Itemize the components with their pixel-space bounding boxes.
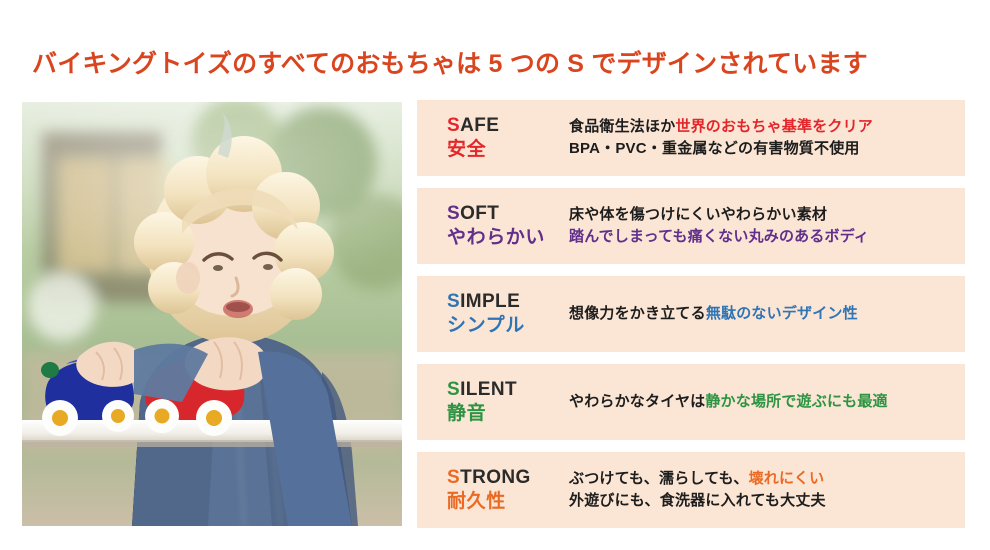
feature-label: STRONG耐久性 (417, 466, 569, 515)
feature-label-en: SILENT (447, 378, 569, 402)
feature-description-line: 食品衛生法ほか世界のおもちゃ基準をクリア (569, 116, 957, 138)
feature-text-accent: 静かな場所で遊ぶにも最適 (705, 393, 887, 410)
feature-text-plain: 外遊びにも、食洗器に入れても大丈夫 (569, 492, 826, 509)
photo-illustration (22, 102, 402, 526)
feature-list: SAFE安全食品衛生法ほか世界のおもちゃ基準をクリアBPA・PVC・重金属などの… (417, 100, 965, 528)
feature-description: 床や体を傷つけにくいやわらかい素材踏んでしまっても痛くない丸みのあるボディ (569, 204, 965, 248)
feature-row: SOFTやわらかい床や体を傷つけにくいやわらかい素材踏んでしまっても痛くない丸み… (417, 188, 965, 264)
feature-label-en-rest: AFE (460, 115, 499, 136)
feature-description-line: やわらかなタイヤは静かな場所で遊ぶにも最適 (569, 391, 957, 413)
feature-initial-letter: S (447, 203, 460, 224)
feature-row: SIMPLEシンプル想像力をかき立てる無駄のないデザイン性 (417, 276, 965, 352)
feature-label-ja: やわらかい (447, 226, 569, 250)
feature-description-line: BPA・PVC・重金属などの有害物質不使用 (569, 138, 957, 160)
feature-text-plain: 食品衛生法ほか (569, 118, 675, 135)
feature-text-plain: BPA・PVC・重金属などの有害物質不使用 (569, 140, 860, 157)
feature-label-ja: 安全 (447, 138, 569, 162)
feature-text-accent: 壊れにくい (749, 470, 825, 487)
feature-label: SAFE安全 (417, 114, 569, 163)
feature-text-plain: ぶつけても、濡らしても、 (569, 470, 749, 487)
feature-text-accent: 無駄のないデザイン性 (706, 305, 858, 322)
feature-description: ぶつけても、濡らしても、壊れにくい外遊びにも、食洗器に入れても大丈夫 (569, 468, 965, 512)
feature-label-en-rest: TRONG (460, 467, 531, 488)
feature-description: やわらかなタイヤは静かな場所で遊ぶにも最適 (569, 391, 965, 413)
feature-text-accent: 世界のおもちゃ基準をクリア (675, 118, 873, 135)
feature-initial-letter: S (447, 379, 460, 400)
feature-description: 想像力をかき立てる無駄のないデザイン性 (569, 303, 965, 325)
feature-initial-letter: S (447, 467, 460, 488)
feature-row: SAFE安全食品衛生法ほか世界のおもちゃ基準をクリアBPA・PVC・重金属などの… (417, 100, 965, 176)
feature-description-line: 踏んでしまっても痛くない丸みのあるボディ (569, 226, 957, 248)
feature-description-line: 床や体を傷つけにくいやわらかい素材 (569, 204, 957, 226)
feature-label: SOFTやわらかい (417, 202, 569, 251)
feature-text-plain: 想像力をかき立てる (569, 305, 706, 322)
feature-row: STRONG耐久性ぶつけても、濡らしても、壊れにくい外遊びにも、食洗器に入れても… (417, 452, 965, 528)
feature-initial-letter: S (447, 291, 460, 312)
feature-label-ja: シンプル (447, 314, 569, 338)
feature-label-ja: 耐久性 (447, 490, 569, 514)
feature-label-ja: 静音 (447, 402, 569, 426)
feature-label-en-rest: IMPLE (460, 291, 520, 312)
feature-label: SILENT静音 (417, 378, 569, 427)
feature-label-en: SAFE (447, 114, 569, 138)
feature-text-plain: 床や体を傷つけにくいやわらかい素材 (569, 206, 827, 223)
feature-row: SILENT静音やわらかなタイヤは静かな場所で遊ぶにも最適 (417, 364, 965, 440)
feature-description-line: 想像力をかき立てる無駄のないデザイン性 (569, 303, 957, 325)
feature-label-en: STRONG (447, 466, 569, 490)
feature-description-line: 外遊びにも、食洗器に入れても大丈夫 (569, 490, 957, 512)
feature-label: SIMPLEシンプル (417, 290, 569, 339)
page-title: バイキングトイズのすべてのおもちゃは 5 つの S でデザインされています (32, 44, 868, 80)
feature-label-en: SOFT (447, 202, 569, 226)
feature-label-en-rest: OFT (460, 203, 499, 224)
feature-label-en-rest: ILENT (460, 379, 517, 400)
feature-description: 食品衛生法ほか世界のおもちゃ基準をクリアBPA・PVC・重金属などの有害物質不使… (569, 116, 965, 160)
feature-text-accent: 踏んでしまっても痛くない丸みのあるボディ (569, 228, 869, 245)
product-photo (22, 102, 402, 526)
feature-label-en: SIMPLE (447, 290, 569, 314)
feature-description-line: ぶつけても、濡らしても、壊れにくい (569, 468, 957, 490)
feature-initial-letter: S (447, 115, 460, 136)
feature-text-plain: やわらかなタイヤは (569, 393, 705, 410)
infographic-page: バイキングトイズのすべてのおもちゃは 5 つの S でデザインされています (0, 0, 990, 550)
